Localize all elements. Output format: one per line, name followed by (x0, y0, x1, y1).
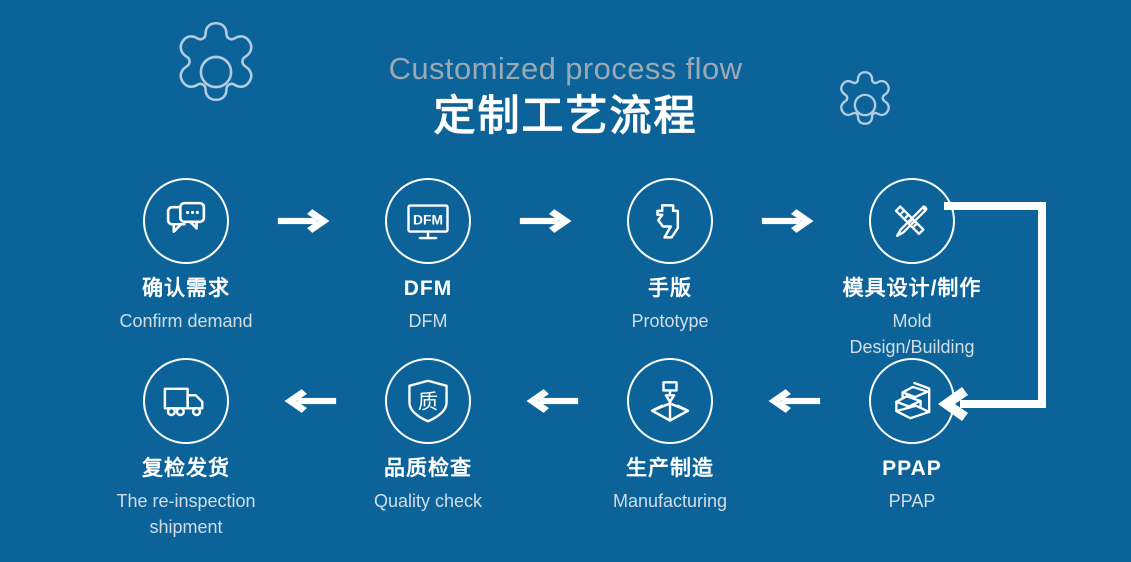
arrow-right-icon (752, 178, 830, 264)
flow-step-label-en: The re-inspection shipment (104, 488, 268, 540)
flow-step-label-en: Quality check (374, 488, 482, 514)
flow-step-prototype[interactable]: 手版 Prototype (588, 178, 752, 334)
delivery-truck-icon (143, 358, 229, 444)
flow-step-reinspection-shipment[interactable]: 复检发货 The re-inspection shipment (104, 358, 268, 540)
arrow-left-icon (510, 358, 588, 444)
svg-text:质: 质 (418, 390, 438, 414)
arrow-right-icon (268, 178, 346, 264)
flow-step-quality-check[interactable]: 质 品质检查 Quality check (346, 358, 510, 514)
svg-text:DFM: DFM (413, 211, 443, 227)
flow-step-label-cn: PPAP (882, 456, 942, 481)
flow-row-bottom: 复检发货 The re-inspection shipment 质 品质检查 Q… (104, 358, 994, 540)
flow-step-label-en: Prototype (631, 308, 708, 334)
flow-step-label-cn: 确认需求 (142, 276, 230, 301)
flow-step-dfm[interactable]: DFM DFM DFM (346, 178, 510, 334)
monitor-dfm-icon: DFM (385, 178, 471, 264)
flow-step-ppap[interactable]: PPAP PPAP (830, 358, 994, 514)
arrow-left-icon (752, 358, 830, 444)
flow-step-label-en: Manufacturing (613, 488, 727, 514)
flow-row-top: 确认需求 Confirm demand DFM DFM DFM (104, 178, 994, 360)
flow-step-label-cn: DFM (404, 276, 453, 301)
molding-machine-icon (627, 358, 713, 444)
flow-step-label-en: PPAP (889, 488, 936, 514)
chat-bubbles-icon (143, 178, 229, 264)
flow-step-manufacturing[interactable]: 生产制造 Manufacturing (588, 358, 752, 514)
flow-step-confirm-demand[interactable]: 确认需求 Confirm demand (104, 178, 268, 334)
prototype-part-icon (627, 178, 713, 264)
flow-step-label-en: DFM (409, 308, 448, 334)
flow-step-label-cn: 品质检查 (384, 456, 472, 481)
flow-step-label-en: Confirm demand (119, 308, 252, 334)
quality-shield-icon: 质 (385, 358, 471, 444)
stacked-parts-icon (869, 358, 955, 444)
title-english: Customized process flow (0, 52, 1131, 87)
title-chinese: 定制工艺流程 (0, 91, 1131, 141)
flow-step-label-cn: 手版 (648, 276, 692, 301)
arrow-left-icon (268, 358, 346, 444)
flow-step-label-cn: 生产制造 (626, 456, 714, 481)
arrow-right-icon (510, 178, 588, 264)
process-flow-poster: Customized process flow 定制工艺流程 确认需求 Conf… (0, 0, 1131, 562)
flow-step-label-cn: 复检发货 (142, 456, 230, 481)
page-title: Customized process flow 定制工艺流程 (0, 52, 1131, 140)
